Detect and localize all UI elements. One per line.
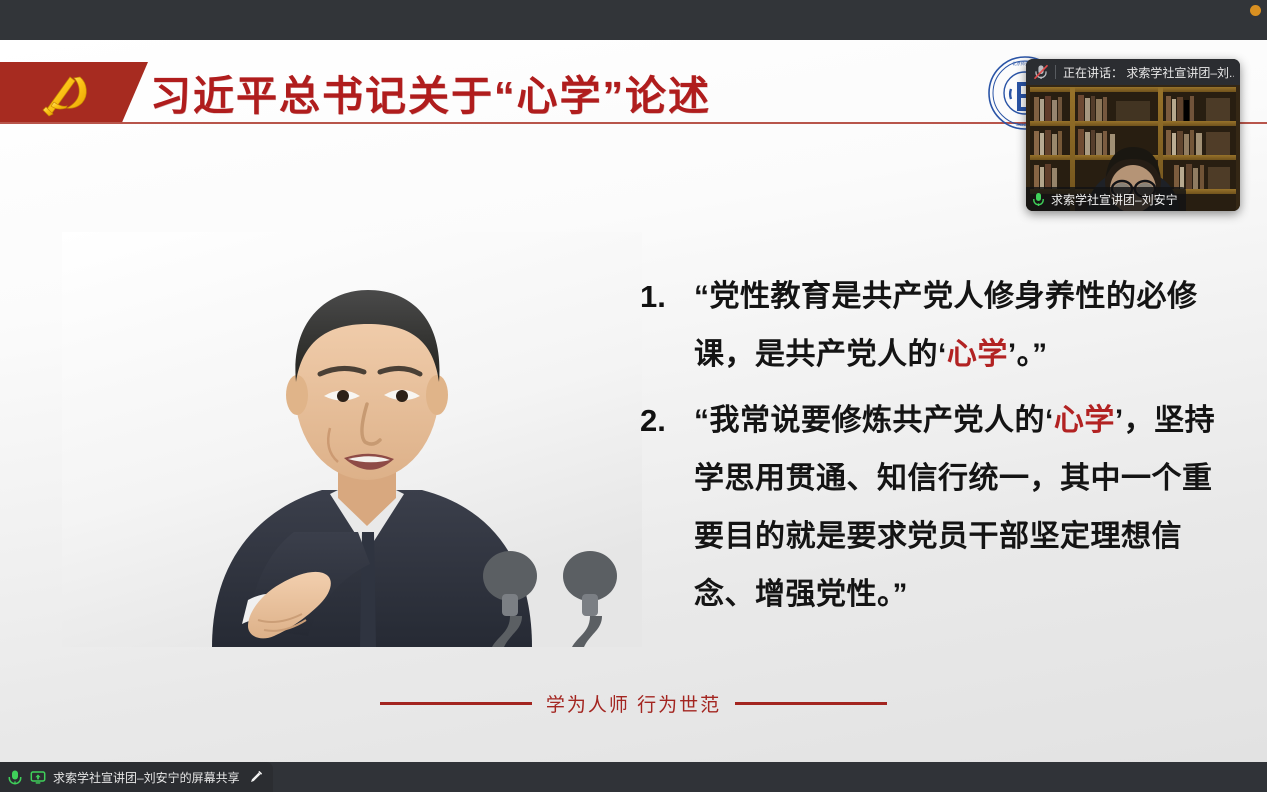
active-speaker-label: 正在讲话： 求索学社宣讲团–刘..	[1063, 64, 1234, 81]
list-item: 2. “我常说要修炼共产党人的‘心学’，坚持学思用贯通、知信行统一，其中一个重要…	[640, 392, 1240, 624]
quote-segment: “我常说要修炼共产党人的‘	[694, 404, 1054, 437]
meeting-top-bar	[0, 0, 1267, 40]
page-title: 习近平总书记关于“心学”论述	[150, 70, 970, 122]
quote-highlight: 心学	[947, 338, 1008, 371]
video-panel-header: 正在讲话： 求索学社宣讲团–刘..	[1026, 59, 1240, 85]
quote-segment: “党性教育是共产党人修身养性的必修课，是共产党人的‘	[694, 280, 1198, 371]
meeting-app-root: 习近平总书记关于“心学”论述 北京师范大学 SCHOOL	[0, 0, 1267, 792]
motto-rule-right	[735, 702, 887, 705]
quote-segment: ’。”	[1008, 338, 1048, 371]
list-item: 1. “党性教育是共产党人修身养性的必修课，是共产党人的‘心学’。”	[640, 268, 1240, 384]
video-thumbnail-panel[interactable]: 正在讲话： 求索学社宣讲团–刘..	[1026, 59, 1240, 211]
microphone-on-icon[interactable]	[7, 769, 23, 785]
microphone-muted-icon[interactable]	[1032, 63, 1050, 81]
speaker-photo-image	[62, 232, 642, 647]
screen-share-status-bar[interactable]: 求索学社宣讲团–刘安宁的屏幕共享	[0, 762, 273, 792]
speaker-photo	[62, 232, 642, 647]
motto-rule-left	[380, 702, 532, 705]
list-item-number: 1.	[640, 268, 694, 384]
list-item-number: 2.	[640, 392, 694, 624]
list-item-text: “我常说要修炼共产党人的‘心学’，坚持学思用贯通、知信行统一，其中一个重要目的就…	[694, 392, 1240, 624]
participant-name: 求索学社宣讲团–刘安宁	[1051, 191, 1178, 208]
quote-highlight: 心学	[1054, 404, 1115, 437]
quote-list: 1. “党性教育是共产党人修身养性的必修课，是共产党人的‘心学’。” 2. “我…	[640, 268, 1240, 632]
screen-share-icon[interactable]	[30, 769, 46, 785]
slide-footer-motto: 学为人师 行为世范	[0, 690, 1267, 717]
share-status-text: 求索学社宣讲团–刘安宁的屏幕共享	[53, 769, 240, 786]
recording-dot-icon	[1250, 5, 1261, 16]
microphone-on-icon	[1032, 192, 1045, 207]
participant-name-badge: 求索学社宣讲团–刘安宁	[1026, 187, 1186, 211]
list-item-text: “党性教育是共产党人修身养性的必修课，是共产党人的‘心学’。”	[694, 268, 1240, 384]
motto-text: 学为人师 行为世范	[546, 690, 721, 717]
party-emblem-icon	[40, 69, 94, 119]
header-divider	[1055, 65, 1056, 79]
pencil-icon[interactable]	[249, 770, 263, 784]
